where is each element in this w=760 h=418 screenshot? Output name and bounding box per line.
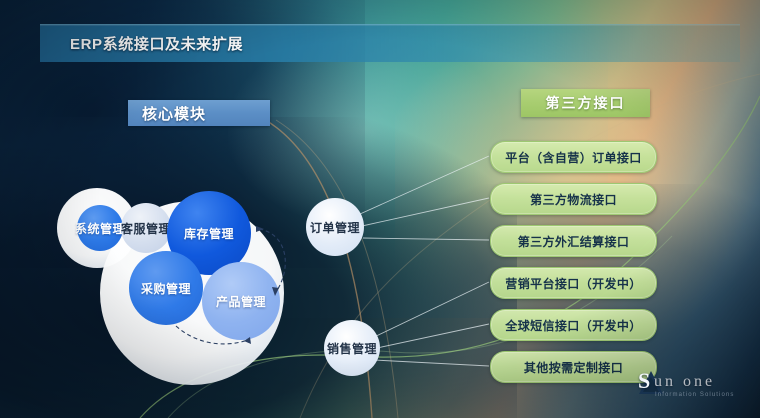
background-vignette [0, 0, 760, 418]
logo-initial: S [638, 370, 650, 392]
slide-canvas: ERP系统接口及未来扩展 核心模块 第三方接口 系统管理客服管理库存管理采购管理… [0, 0, 760, 418]
